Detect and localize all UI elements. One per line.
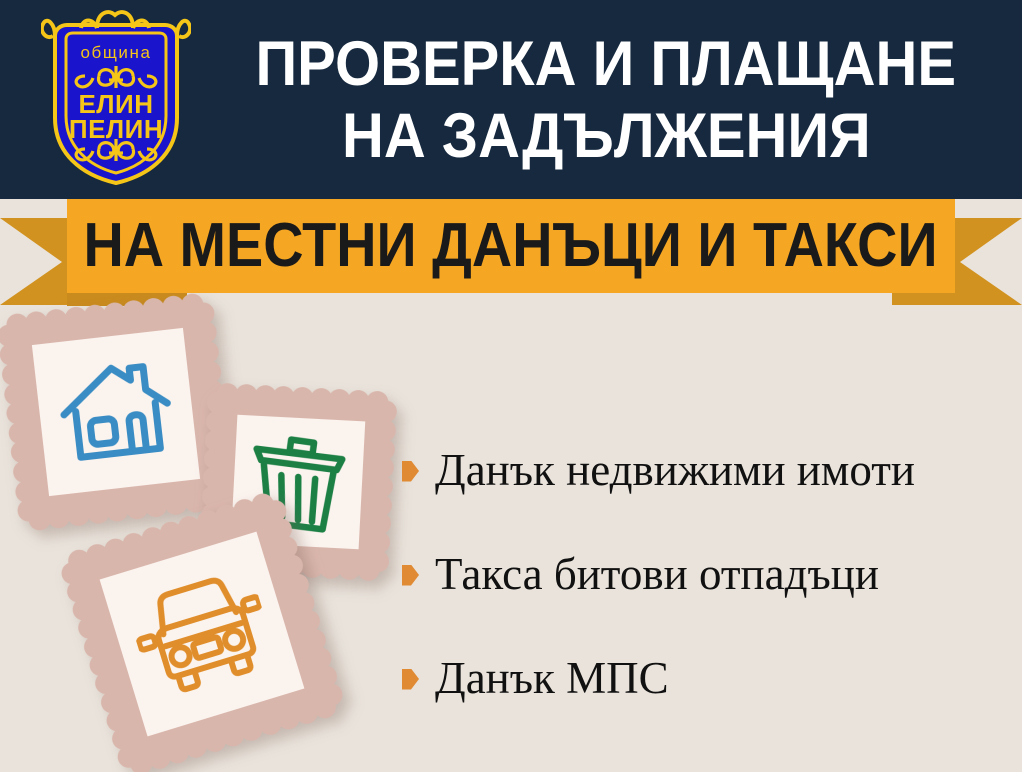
municipality-logo: община ЕЛИН ПЕЛИН xyxy=(41,6,191,191)
tax-type-list: Данък недвижими имоти Такса битови отпад… xyxy=(402,418,1017,730)
elin-pelin-crest-icon: община ЕЛИН ПЕЛИН xyxy=(41,6,191,191)
stamp-card-vehicle xyxy=(70,502,335,767)
list-item-label: Такса битови отпадъци xyxy=(435,549,879,599)
stamp-paper xyxy=(100,532,305,737)
page-title: ПРОВЕРКА И ПЛАЩАНЕ НА ЗАДЪЛЖЕНИЯ xyxy=(196,0,1016,199)
list-item-label: Данък недвижими имоти xyxy=(435,445,915,495)
page-title-line-1: ПРОВЕРКА И ПЛАЩАНЕ xyxy=(256,28,957,100)
stamp-card-property xyxy=(8,304,225,521)
bullet-arrow-icon xyxy=(402,461,419,482)
crest-text-obshtina: община xyxy=(80,43,151,62)
bullet-arrow-icon xyxy=(402,565,419,586)
bullet-arrow-icon xyxy=(402,669,419,690)
stamp-paper xyxy=(32,328,200,496)
car-front-icon xyxy=(124,562,280,705)
ribbon-banner: НА МЕСТНИ ДАНЪЦИ И ТАКСИ xyxy=(67,199,955,293)
list-item-label: Данък МПС xyxy=(435,653,669,703)
house-icon xyxy=(50,351,182,474)
list-item[interactable]: Данък недвижими имоти xyxy=(402,418,1017,522)
header-bar: община ЕЛИН ПЕЛИН ПРОВЕРКА И ПЛАЩАНЕ НА … xyxy=(0,0,1022,199)
crest-text-pelin: ПЕЛИН xyxy=(69,114,163,144)
list-item[interactable]: Данък МПС xyxy=(402,626,1017,730)
list-item[interactable]: Такса битови отпадъци xyxy=(402,522,1017,626)
poster-canvas: община ЕЛИН ПЕЛИН ПРОВЕРКА И ПЛАЩАНЕ НА … xyxy=(0,0,1022,772)
page-title-line-2: НА ЗАДЪЛЖЕНИЯ xyxy=(342,100,871,172)
ribbon-label: НА МЕСТНИ ДАНЪЦИ И ТАКСИ xyxy=(84,215,938,277)
stamp-scallop xyxy=(366,549,389,572)
